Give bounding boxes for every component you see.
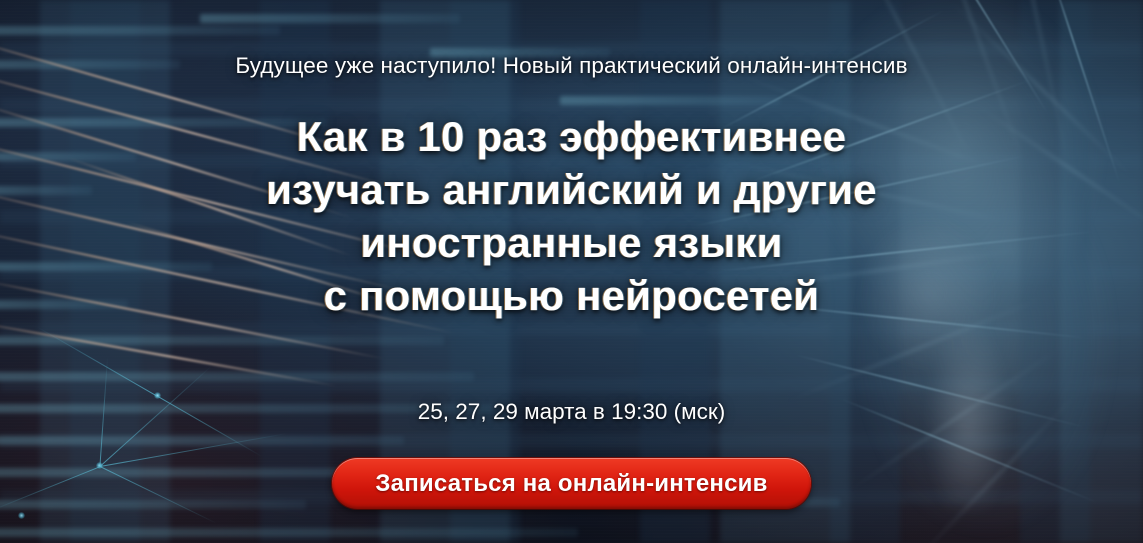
cta-container: Записаться на онлайн-интенсив xyxy=(332,458,811,509)
headline-line-3: иностранные языки xyxy=(266,216,877,269)
headline-line-2: изучать английский и другие xyxy=(266,163,877,216)
headline-line-4: с помощью нейросетей xyxy=(266,269,877,322)
hero-headline: Как в 10 раз эффективнее изучать английс… xyxy=(266,110,877,322)
hero-kicker: Будущее уже наступило! Новый практически… xyxy=(235,52,907,80)
hero-datetime: 25, 27, 29 марта в 19:30 (мск) xyxy=(418,399,725,425)
hero-content: Будущее уже наступило! Новый практически… xyxy=(0,0,1143,543)
signup-button[interactable]: Записаться на онлайн-интенсив xyxy=(332,458,811,509)
hero-banner: Будущее уже наступило! Новый практически… xyxy=(0,0,1143,543)
headline-line-1: Как в 10 раз эффективнее xyxy=(266,110,877,163)
